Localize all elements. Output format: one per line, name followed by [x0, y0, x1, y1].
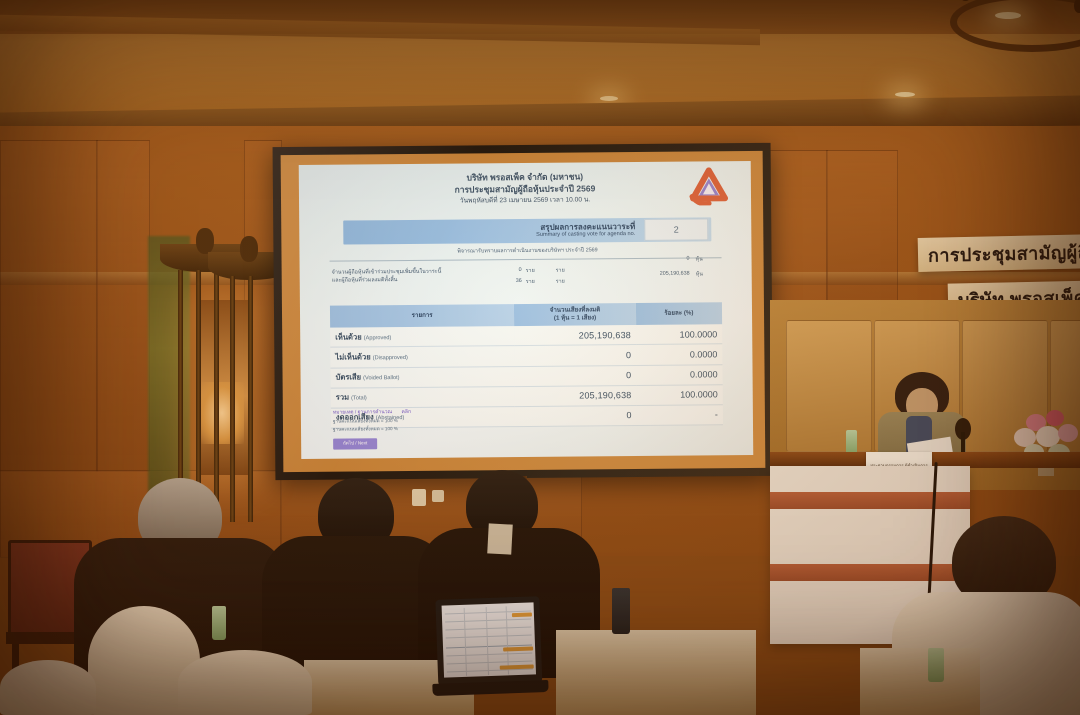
- chandelier-ring: [950, 0, 1080, 52]
- attendee-laptop[interactable]: [435, 596, 542, 696]
- torchiere-finial-2: [240, 236, 258, 262]
- slide-next-button[interactable]: ถัดไป / Next: [333, 438, 377, 449]
- row-votes-4: 0: [515, 405, 637, 426]
- slide-footer-link[interactable]: หมายเหตุ / ฐานการคำนวณ คลิก: [333, 408, 411, 417]
- row-item-english: (Voided Ballot): [363, 375, 399, 381]
- counts-row1-unit: ราย: [526, 267, 535, 275]
- banquet-table: [860, 648, 980, 715]
- wall-power-outlet: [412, 489, 426, 506]
- torchiere-finial: [196, 228, 214, 254]
- row-votes-0: 205,190,638: [514, 325, 636, 346]
- attendee-shirt-collar: [487, 523, 513, 554]
- chair-cover: [0, 660, 96, 715]
- chandelier-bulb: [1074, 0, 1080, 13]
- row-percent-1: 0.0000: [636, 344, 722, 365]
- row-votes-1: 0: [515, 345, 637, 366]
- counts-row2-count: 36: [498, 278, 522, 284]
- decorative-foliage-column: [148, 236, 190, 516]
- counts-desc-line2: และผู้ถือหุ้นที่ร่วมลงมติทั้งสิ้น: [332, 275, 492, 285]
- row-percent-3: 100.0000: [636, 384, 722, 405]
- row-item-2: บัตรเสีย (Voided Ballot): [330, 366, 514, 388]
- attendance-counts-block: จำนวนผู้ถือหุ้นที่เข้าร่วมประชุมเพิ่มขึ้…: [330, 261, 722, 300]
- row-item-3: รวม (Total): [331, 386, 515, 408]
- banquet-table: [556, 630, 756, 715]
- presentation-slide: บริษัท พรอสเพ็ค จำกัด (มหาชน) การประชุมส…: [299, 161, 754, 459]
- counts-right1-unit: หุ้น: [696, 255, 703, 263]
- agenda-label-block: สรุปผลการลงคะแนนวาระที่ Summary of casti…: [343, 222, 644, 240]
- row-votes-3: 205,190,638: [515, 385, 637, 406]
- slide-title-block: บริษัท พรอสเพ็ค จำกัด (มหาชน) การประชุมส…: [299, 169, 751, 207]
- counts-right1-value: 0: [602, 256, 690, 263]
- laptop-lid: [435, 596, 542, 686]
- header-votes-sub: (1 หุ้น = 1 เสียง): [518, 314, 632, 323]
- agenda-label-english: Summary of casting vote for agenda no.: [343, 231, 635, 240]
- slide-footnote-1: ฐานคะแนนเสียงทั้งหมด = 100 %: [333, 418, 398, 426]
- flower-bloom: [1046, 410, 1064, 426]
- table-skirt-stripe-upper: [770, 492, 970, 509]
- counts-right2-value: 205,190,638: [602, 271, 690, 278]
- banner-line-1: การประชุมสามัญผู้ถือหุ้นประจำปี 2569: [918, 234, 1080, 272]
- prospect-triangle-logo: [689, 167, 729, 205]
- cornice-downlight: [895, 92, 915, 97]
- agenda-number-value: 2: [644, 218, 708, 241]
- counts-right2-unit: หุ้น: [696, 270, 703, 278]
- row-item-thai: ไม่เห็นด้วย: [335, 352, 370, 361]
- chandelier-bulb: [960, 0, 971, 1]
- footer-link-tag: คลิก: [402, 409, 411, 415]
- counts-row2-unit2: ราย: [556, 278, 565, 286]
- row-percent-2: 0.0000: [636, 364, 722, 385]
- row-item-thai: รวม: [336, 393, 349, 402]
- row-item-english: (Total): [351, 396, 367, 402]
- agenda-summary-bar: สรุปผลการลงคะแนนวาระที่ Summary of casti…: [343, 217, 711, 244]
- stage-wall-pad: [786, 320, 872, 452]
- torchiere-stem: [214, 270, 219, 520]
- water-bottle: [212, 606, 226, 640]
- laptop-base: [432, 680, 548, 696]
- projection-screen-surface: บริษัท พรอสเพ็ค จำกัด (มหาชน) การประชุมส…: [281, 151, 766, 472]
- chandelier: [930, 0, 1080, 54]
- header-percent: ร้อยละ (%): [636, 302, 722, 325]
- counts-row2-unit: ราย: [526, 278, 535, 286]
- laptop-screen[interactable]: [442, 602, 536, 677]
- tumbler: [612, 588, 630, 634]
- torchiere-stem: [230, 276, 235, 522]
- header-votes: จำนวนเสียงที่ลงมติ (1 หุ้น = 1 เสียง): [514, 303, 636, 326]
- row-percent-0: 100.0000: [636, 324, 722, 344]
- torchiere-stem: [248, 276, 253, 522]
- table-skirt-stripe-lower: [770, 564, 970, 581]
- row-percent-4: -: [637, 405, 723, 426]
- header-item: รายการ: [330, 304, 514, 328]
- wall-panel: [826, 150, 898, 302]
- meeting-room-photo: บริษัท พรอสเพ็ค จำกัด (มหาชน) การประชุมส…: [0, 0, 1080, 715]
- flower-bloom: [1058, 424, 1078, 442]
- counts-row1-count: 0: [498, 267, 522, 273]
- wall-panel: [96, 140, 150, 472]
- water-bottle: [928, 648, 944, 682]
- row-item-thai: เห็นด้วย: [335, 332, 362, 341]
- projection-screen: บริษัท พรอสเพ็ค จำกัด (มหาชน) การประชุมส…: [273, 143, 774, 480]
- slide-footnote-2: ฐานคะแนนเสียงทั้งหมด = 100 %: [333, 426, 398, 434]
- wall-panel: [0, 140, 98, 472]
- alcove-lamp-glow: [200, 382, 244, 444]
- chair-cover: [178, 650, 312, 715]
- counts-row1-unit2: ราย: [556, 267, 565, 275]
- row-item-english: (Disapproved): [373, 355, 408, 361]
- row-votes-2: 0: [515, 365, 637, 386]
- row-item-0: เห็นด้วย (Approved): [330, 326, 514, 347]
- wall-switch-plate: [432, 490, 444, 502]
- row-item-english: (Approved): [364, 335, 392, 341]
- footer-link-text: หมายเหตุ / ฐานการคำนวณ: [333, 409, 392, 416]
- row-item-thai: บัตรเสีย: [336, 373, 362, 382]
- ceiling-downlight-2: [600, 96, 618, 101]
- row-item-1: ไม่เห็นด้วย (Disapproved): [330, 346, 514, 368]
- counts-description: จำนวนผู้ถือหุ้นที่เข้าร่วมประชุมเพิ่มขึ้…: [332, 267, 492, 285]
